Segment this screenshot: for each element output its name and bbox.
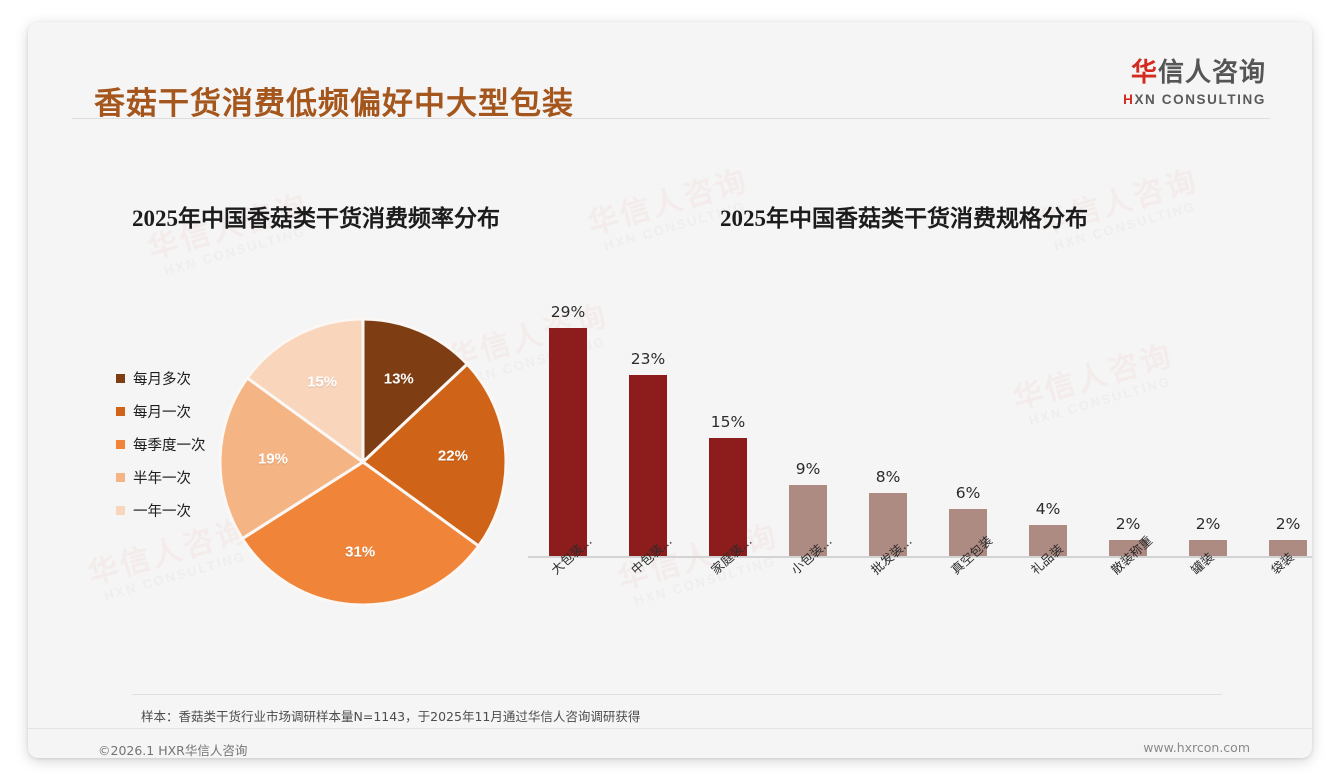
legend-swatch-icon xyxy=(116,473,125,482)
bar-chart-plot: 29%23%15%9%8%6%4%2%2%2% xyxy=(528,304,1312,556)
logo-cn-text: 华信人咨询 xyxy=(1123,60,1266,86)
pie-legend-item[interactable]: 一年一次 xyxy=(116,494,206,527)
legend-swatch-icon xyxy=(116,506,125,515)
legend-swatch-icon xyxy=(116,374,125,383)
page-title: 香菇干货消费低频偏好中大型包装 xyxy=(94,78,574,123)
company-logo: 华信人咨询 HXN CONSULTING xyxy=(1123,60,1266,107)
bar-chart-column: 29% xyxy=(528,304,608,556)
bar-chart-column: 23% xyxy=(608,304,688,556)
copyright-text: ©2026.1 HXR华信人咨询 xyxy=(98,740,247,758)
website-link[interactable]: www.hxrcon.com xyxy=(1143,740,1250,755)
pie-legend-item[interactable]: 每月多次 xyxy=(116,362,206,395)
logo-cn-highlight: 华 xyxy=(1131,58,1158,88)
bar-chart-column: 2% xyxy=(1168,304,1248,556)
bar-value-label: 29% xyxy=(551,303,585,321)
pie-slice-value: 22% xyxy=(438,448,468,465)
pie-chart-legend: 每月多次每月一次每季度一次半年一次一年一次 xyxy=(116,362,206,527)
bar[interactable] xyxy=(549,328,587,556)
pie-legend-label: 一年一次 xyxy=(133,500,191,521)
sample-note: 样本：香菇类干货行业市场调研样本量N=1143，于2025年11月通过华信人咨询… xyxy=(141,706,640,725)
bar-value-label: 6% xyxy=(956,484,981,502)
legend-swatch-icon xyxy=(116,440,125,449)
bar-chart-column: 9% xyxy=(768,304,848,556)
bar-value-label: 2% xyxy=(1276,515,1301,533)
pie-legend-item[interactable]: 每季度一次 xyxy=(116,428,206,461)
slide-header: 香菇干货消费低频偏好中大型包装 华信人咨询 HXN CONSULTING xyxy=(28,22,1312,118)
pie-chart-title: 2025年中国香菇类干货消费频率分布 xyxy=(132,199,500,233)
bar-chart-column: 4% xyxy=(1008,304,1088,556)
pie-slice-value: 15% xyxy=(307,373,337,390)
pie-legend-label: 每季度一次 xyxy=(133,434,206,455)
pie-slice-value: 31% xyxy=(345,544,375,561)
pie-slice-value: 19% xyxy=(258,451,288,468)
bar-value-label: 15% xyxy=(711,413,745,431)
bar-value-label: 9% xyxy=(796,460,821,478)
pie-legend-item[interactable]: 每月一次 xyxy=(116,395,206,428)
bar-chart-column: 2% xyxy=(1248,304,1312,556)
bar-chart-column: 2% xyxy=(1088,304,1168,556)
logo-cn-rest: 信人咨询 xyxy=(1158,58,1266,88)
pie-legend-item[interactable]: 半年一次 xyxy=(116,461,206,494)
legend-swatch-icon xyxy=(116,407,125,416)
bar-value-label: 23% xyxy=(631,350,665,368)
logo-en-rest: XN CONSULTING xyxy=(1134,92,1266,107)
pie-slice-value: 13% xyxy=(384,371,414,388)
bar-chart-column: 6% xyxy=(928,304,1008,556)
pie-legend-label: 每月一次 xyxy=(133,401,191,422)
bar-value-label: 2% xyxy=(1116,515,1141,533)
bar[interactable] xyxy=(629,375,667,556)
bar-value-label: 2% xyxy=(1196,515,1221,533)
bar-value-label: 4% xyxy=(1036,500,1061,518)
logo-en-text: HXN CONSULTING xyxy=(1123,93,1266,107)
footer-divider xyxy=(28,728,1312,729)
logo-en-highlight: H xyxy=(1123,92,1134,107)
bar-value-label: 8% xyxy=(876,468,901,486)
bar-chart-title: 2025年中国香菇类干货消费规格分布 xyxy=(720,199,1088,233)
pie-legend-label: 半年一次 xyxy=(133,467,191,488)
bar-chart-column: 8% xyxy=(848,304,928,556)
bar-chart-column: 15% xyxy=(688,304,768,556)
pie-legend-label: 每月多次 xyxy=(133,368,191,389)
slide-card: 华信人咨询 HXN CONSULTING 华信人咨询 HXN CONSULTIN… xyxy=(28,22,1312,758)
sample-note-divider xyxy=(132,694,1222,695)
